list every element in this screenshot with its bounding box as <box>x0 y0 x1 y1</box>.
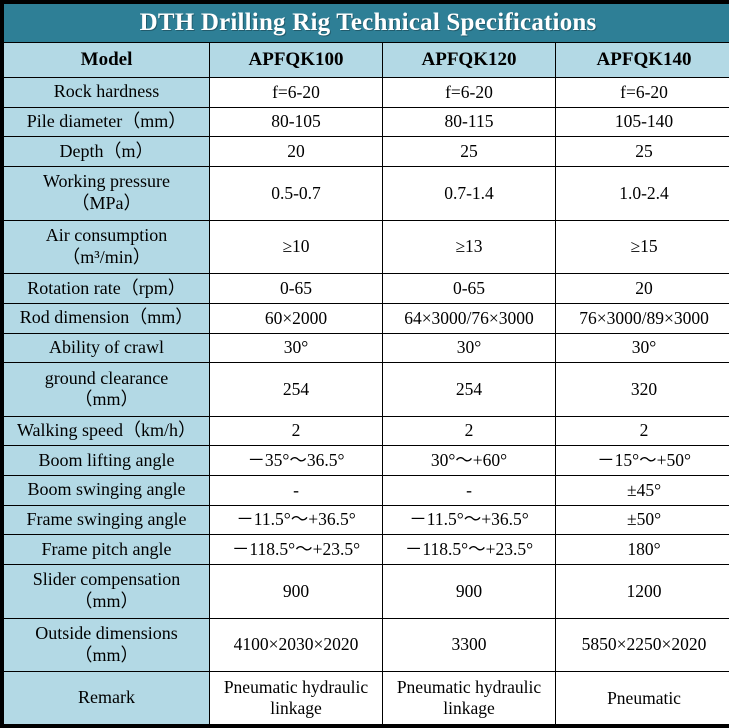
row-label: Rock hardness <box>4 78 210 108</box>
row-label-text: Outside dimensions <box>7 623 206 645</box>
cell-value: ≥15 <box>556 220 729 274</box>
row-label: Depth（m） <box>4 137 210 167</box>
column-header-model-3: APFQK140 <box>556 43 729 78</box>
row-label: Pile diameter（mm） <box>4 107 210 137</box>
table-row: Rock hardnessf=6-20f=6-20f=6-20 <box>4 78 729 108</box>
row-label-unit: （mm） <box>7 591 206 613</box>
cell-value: －15°～+50° <box>556 446 729 476</box>
row-label: Rotation rate（rpm） <box>4 274 210 304</box>
cell-value: 254 <box>210 363 383 417</box>
row-label: Air consumption（m³/min） <box>4 220 210 274</box>
cell-value: ≥13 <box>383 220 556 274</box>
cell-value: 180° <box>556 535 729 565</box>
cell-value: 76×3000/89×3000 <box>556 303 729 333</box>
row-label-unit: （mm） <box>7 645 206 667</box>
cell-value: 80-105 <box>210 107 383 137</box>
table-row: Walking speed（km/h）222 <box>4 416 729 446</box>
row-label: Frame swinging angle <box>4 505 210 535</box>
row-label-text: Rock hardness <box>7 81 206 103</box>
cell-value: 1.0-2.4 <box>556 166 729 220</box>
row-label-text: Frame pitch angle <box>7 539 206 561</box>
cell-value: 320 <box>556 363 729 417</box>
row-label-text: Frame swinging angle <box>7 509 206 531</box>
table-row: Boom swinging angle--±45° <box>4 476 729 506</box>
row-label: Slider compensation（mm） <box>4 564 210 618</box>
cell-value: 254 <box>383 363 556 417</box>
row-label-unit: （mm） <box>7 389 206 411</box>
cell-value: 3300 <box>383 618 556 672</box>
column-header-model-2: APFQK120 <box>383 43 556 78</box>
row-label: Rod dimension（mm） <box>4 303 210 333</box>
table-row: Boom lifting angle－35°～36.5°30°～+60°－15°… <box>4 446 729 476</box>
table-row: Working pressure（MPa）0.5-0.70.7-1.41.0-2… <box>4 166 729 220</box>
table-row: Frame swinging angle－11.5°～+36.5°－11.5°～… <box>4 505 729 535</box>
row-label-unit: （m³/min） <box>7 247 206 269</box>
cell-value: f=6-20 <box>383 78 556 108</box>
cell-value: Pneumatic <box>556 672 729 725</box>
row-label-text: ground clearance <box>7 368 206 390</box>
row-label: Outside dimensions（mm） <box>4 618 210 672</box>
row-label-text: Walking speed（km/h） <box>7 420 206 442</box>
cell-value: 2 <box>556 416 729 446</box>
cell-value: －11.5°～+36.5° <box>383 505 556 535</box>
row-label-unit: （MPa） <box>7 193 206 215</box>
row-label: Boom swinging angle <box>4 476 210 506</box>
row-label-text: Pile diameter（mm） <box>7 111 206 133</box>
cell-value: 2 <box>210 416 383 446</box>
column-header-model-1: APFQK100 <box>210 43 383 78</box>
cell-value: 20 <box>556 274 729 304</box>
specifications-table-container: DTH Drilling Rig Technical Specification… <box>0 0 729 728</box>
row-label-text: Boom swinging angle <box>7 479 206 501</box>
cell-value: 60×2000 <box>210 303 383 333</box>
table-row: Outside dimensions（mm）4100×2030×20203300… <box>4 618 729 672</box>
cell-value: 30° <box>210 333 383 363</box>
cell-value: ±50° <box>556 505 729 535</box>
row-label: Remark <box>4 672 210 725</box>
cell-value: 30° <box>383 333 556 363</box>
row-label-text: Depth（m） <box>7 141 206 163</box>
table-row: Air consumption（m³/min）≥10≥13≥15 <box>4 220 729 274</box>
table-row: Rod dimension（mm）60×200064×3000/76×30007… <box>4 303 729 333</box>
table-row: Ability of crawl30°30°30° <box>4 333 729 363</box>
table-row: ground clearance（mm）254254320 <box>4 363 729 417</box>
row-label: Walking speed（km/h） <box>4 416 210 446</box>
cell-value: 64×3000/76×3000 <box>383 303 556 333</box>
row-label: Frame pitch angle <box>4 535 210 565</box>
cell-value: －11.5°～+36.5° <box>210 505 383 535</box>
cell-value: - <box>210 476 383 506</box>
cell-value: - <box>383 476 556 506</box>
cell-value: 1200 <box>556 564 729 618</box>
table-row: RemarkPneumatic hydraulic linkagePneumat… <box>4 672 729 725</box>
cell-value: f=6-20 <box>210 78 383 108</box>
cell-value: 20 <box>210 137 383 167</box>
page-title: DTH Drilling Rig Technical Specification… <box>4 4 729 43</box>
cell-value: Pneumatic hydraulic linkage <box>210 672 383 725</box>
cell-value: 0-65 <box>383 274 556 304</box>
cell-value: 25 <box>556 137 729 167</box>
cell-value: 0.5-0.7 <box>210 166 383 220</box>
cell-value: －118.5°～+23.5° <box>383 535 556 565</box>
cell-value: ≥10 <box>210 220 383 274</box>
cell-value: 80-115 <box>383 107 556 137</box>
row-label-text: Boom lifting angle <box>7 450 206 472</box>
table-row: Slider compensation（mm）9009001200 <box>4 564 729 618</box>
specifications-table: DTH Drilling Rig Technical Specification… <box>3 3 729 725</box>
cell-value: Pneumatic hydraulic linkage <box>383 672 556 725</box>
row-label: Boom lifting angle <box>4 446 210 476</box>
cell-value: 30°～+60° <box>383 446 556 476</box>
cell-value: 4100×2030×2020 <box>210 618 383 672</box>
cell-value: 25 <box>383 137 556 167</box>
row-label-text: Air consumption <box>7 225 206 247</box>
cell-value: ±45° <box>556 476 729 506</box>
row-label-text: Working pressure <box>7 171 206 193</box>
table-title-row: DTH Drilling Rig Technical Specification… <box>4 4 729 43</box>
row-label: ground clearance（mm） <box>4 363 210 417</box>
cell-value: －118.5°～+23.5° <box>210 535 383 565</box>
row-label: Ability of crawl <box>4 333 210 363</box>
cell-value: 900 <box>210 564 383 618</box>
cell-value: 5850×2250×2020 <box>556 618 729 672</box>
table-row: Rotation rate（rpm）0-650-6520 <box>4 274 729 304</box>
cell-value: 900 <box>383 564 556 618</box>
cell-value: 2 <box>383 416 556 446</box>
row-label-text: Rod dimension（mm） <box>7 307 206 329</box>
table-row: Frame pitch angle－118.5°～+23.5°－118.5°～+… <box>4 535 729 565</box>
cell-value: f=6-20 <box>556 78 729 108</box>
row-label: Working pressure（MPa） <box>4 166 210 220</box>
row-label-text: Remark <box>7 687 206 709</box>
column-header-model: Model <box>4 43 210 78</box>
cell-value: －35°～36.5° <box>210 446 383 476</box>
cell-value: 0-65 <box>210 274 383 304</box>
cell-value: 105-140 <box>556 107 729 137</box>
table-header-row: Model APFQK100 APFQK120 APFQK140 <box>4 43 729 78</box>
row-label-text: Ability of crawl <box>7 337 206 359</box>
cell-value: 0.7-1.4 <box>383 166 556 220</box>
table-row: Depth（m）202525 <box>4 137 729 167</box>
cell-value: 30° <box>556 333 729 363</box>
row-label-text: Rotation rate（rpm） <box>7 278 206 300</box>
table-row: Pile diameter（mm）80-10580-115105-140 <box>4 107 729 137</box>
row-label-text: Slider compensation <box>7 569 206 591</box>
